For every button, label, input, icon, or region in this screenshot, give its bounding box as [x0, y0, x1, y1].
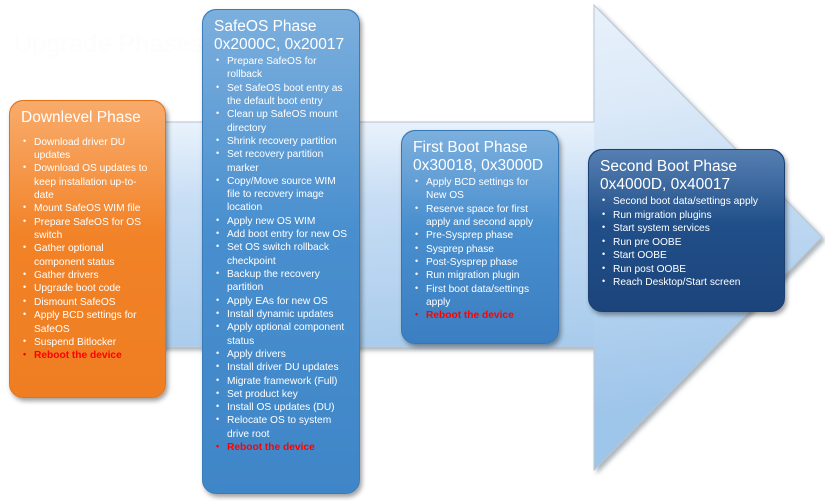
- phase-title-downlevel: Downlevel Phase: [21, 109, 155, 127]
- phase-item: Post-Sysprep phase: [413, 256, 548, 269]
- phase-item: Install OS updates (DU): [214, 401, 349, 414]
- phase-item: Reach Desktop/Start screen: [600, 276, 774, 290]
- phase-title-text: SafeOS Phase: [214, 18, 317, 35]
- upgrade-phases-diagram: Upgrade Phases Downlevel Phase Download …: [0, 0, 825, 501]
- phase-item: Install dynamic updates: [214, 308, 349, 321]
- phase-item: Run migration plugins: [600, 209, 774, 223]
- phase-box-safeos[interactable]: SafeOS Phase 0x2000C, 0x20017 Prepare Sa…: [202, 9, 360, 494]
- phase-item: Apply BCD settings for SafeOS: [21, 309, 155, 336]
- phase-item: Gather optional component status: [21, 242, 155, 269]
- phase-error-codes: 0x30018, 0x3000D: [413, 157, 548, 175]
- phase-item: Set recovery partition marker: [214, 148, 349, 175]
- phase-item: Apply optional component status: [214, 321, 349, 348]
- phase-title-text: First Boot Phase: [413, 139, 528, 156]
- phase-item: Start OOBE: [600, 249, 774, 263]
- phase-item: Download OS updates to keep installation…: [21, 162, 155, 202]
- phase-item: Sysprep phase: [413, 243, 548, 256]
- phase-item: Set OS switch rollback checkpoint: [214, 241, 349, 268]
- phase-item: Set product key: [214, 388, 349, 401]
- phase-item: Apply EAs for new OS: [214, 295, 349, 308]
- phase-item: Install driver DU updates: [214, 361, 349, 374]
- phase-item-list-safeos: Prepare SafeOS for rollbackSet SafeOS bo…: [214, 55, 349, 454]
- phase-box-downlevel[interactable]: Downlevel Phase Download driver DU updat…: [9, 100, 166, 398]
- phase-item: Download driver DU updates: [21, 136, 155, 163]
- diagram-watermark-title: Upgrade Phases: [14, 30, 203, 59]
- phase-item: Clean up SafeOS mount directory: [214, 108, 349, 135]
- phase-item: Run migration plugin: [413, 269, 548, 282]
- phase-item: Reboot the device: [214, 441, 349, 454]
- phase-item: Apply drivers: [214, 348, 349, 361]
- phase-item: Migrate framework (Full): [214, 375, 349, 388]
- phase-title-safeos: SafeOS Phase 0x2000C, 0x20017: [214, 18, 349, 53]
- phase-item: Prepare SafeOS for rollback: [214, 55, 349, 82]
- phase-item: Start system services: [600, 222, 774, 236]
- phase-item: Dismount SafeOS: [21, 296, 155, 309]
- phase-title-second-boot: Second Boot Phase 0x4000D, 0x40017: [600, 158, 774, 193]
- phase-item: Second boot data/settings apply: [600, 195, 774, 209]
- phase-item: Mount SafeOS WIM file: [21, 202, 155, 215]
- phase-item: Prepare SafeOS for OS switch: [21, 216, 155, 243]
- phase-item-list-second-boot: Second boot data/settings applyRun migra…: [600, 195, 774, 290]
- phase-box-second-boot[interactable]: Second Boot Phase 0x4000D, 0x40017 Secon…: [588, 149, 785, 312]
- phase-title-text: Downlevel Phase: [21, 109, 141, 126]
- phase-item: Gather drivers: [21, 269, 155, 282]
- phase-item: Set SafeOS boot entry as the default boo…: [214, 82, 349, 109]
- phase-item: First boot data/settings apply: [413, 283, 548, 310]
- phase-item: Backup the recovery partition: [214, 268, 349, 295]
- phase-title-text: Second Boot Phase: [600, 158, 737, 175]
- phase-item: Apply BCD settings for New OS: [413, 176, 548, 203]
- phase-box-first-boot[interactable]: First Boot Phase 0x30018, 0x3000D Apply …: [401, 130, 559, 344]
- phase-item: Relocate OS to system drive root: [214, 414, 349, 441]
- phase-item: Suspend Bitlocker: [21, 336, 155, 349]
- phase-item: Add boot entry for new OS: [214, 228, 349, 241]
- phase-item: Run pre OOBE: [600, 236, 774, 250]
- phase-title-first-boot: First Boot Phase 0x30018, 0x3000D: [413, 139, 548, 174]
- phase-item: Pre-Sysprep phase: [413, 229, 548, 242]
- phase-item-list-downlevel: Download driver DU updatesDownload OS up…: [21, 136, 155, 363]
- phase-item: Reboot the device: [21, 349, 155, 362]
- phase-item: Shrink recovery partition: [214, 135, 349, 148]
- phase-item: Run post OOBE: [600, 263, 774, 277]
- phase-item: Reserve space for first apply and second…: [413, 203, 548, 230]
- phase-item: Apply new OS WIM: [214, 215, 349, 228]
- phase-error-codes: 0x4000D, 0x40017: [600, 176, 774, 194]
- phase-item-list-first-boot: Apply BCD settings for New OSReserve spa…: [413, 176, 548, 322]
- phase-item: Copy/Move source WIM file to recovery im…: [214, 175, 349, 215]
- phase-item: Reboot the device: [413, 309, 548, 322]
- phase-error-codes: 0x2000C, 0x20017: [214, 36, 349, 54]
- phase-item: Upgrade boot code: [21, 282, 155, 295]
